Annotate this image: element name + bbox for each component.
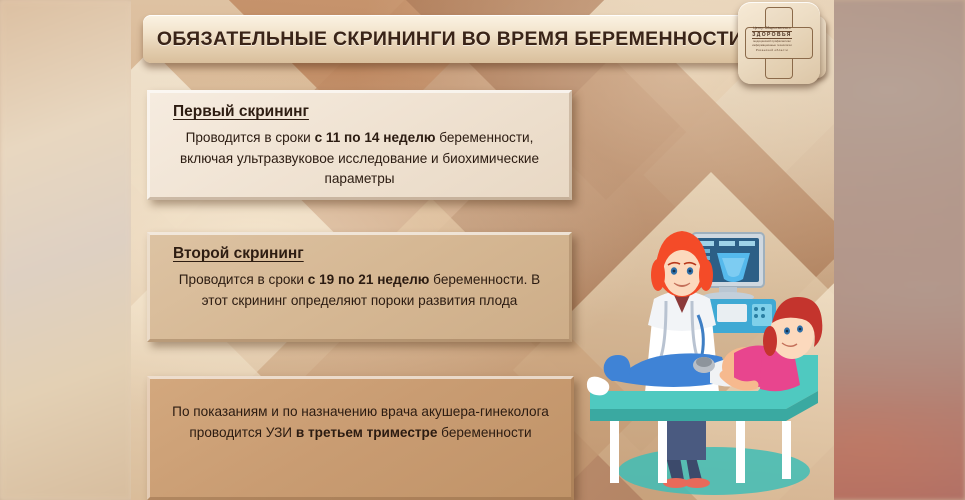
body-text: Проводится в сроки — [186, 130, 315, 145]
box-body: По показаниям и по назначению врача акуш… — [163, 386, 558, 443]
emphasis-text: с 19 по 21 неделю — [308, 272, 430, 287]
box-paragraph: Проводится в сроки с 19 по 21 неделю бер… — [163, 270, 556, 311]
box-body: Второй скрининг Проводится в сроки с 19 … — [163, 245, 556, 311]
body-text: Проводится в сроки — [179, 272, 308, 287]
content-box-first-screening: Первый скрининг Проводится в сроки с 11 … — [147, 90, 572, 200]
ultrasound-illustration — [586, 195, 834, 500]
page-title: ОБЯЗАТЕЛЬНЫЕ СКРИНИНГИ ВО ВРЕМЯ БЕРЕМЕНН… — [157, 28, 743, 51]
box-heading: Первый скрининг — [173, 103, 556, 121]
blurred-backdrop-left — [0, 0, 132, 500]
logo-text-block: Центр Общественного ЗДОРОВЬЯ медицинской… — [744, 24, 800, 54]
presentation-slide: ОБЯЗАТЕЛЬНЫЕ СКРИНИНГИ ВО ВРЕМЯ БЕРЕМЕНН… — [131, 0, 834, 500]
organization-logo: Центр Общественного ЗДОРОВЬЯ медицинской… — [738, 2, 820, 84]
box-body: Первый скрининг Проводится в сроки с 11 … — [163, 103, 556, 190]
emphasis-text: с 11 по 14 неделю — [315, 130, 436, 145]
logo-line-1: Центр Общественного — [753, 26, 790, 30]
logo-line-2: ЗДОРОВЬЯ — [752, 31, 792, 39]
content-box-second-screening: Второй скрининг Проводится в сроки с 19 … — [147, 232, 572, 342]
floor-shadow — [618, 447, 810, 495]
box-paragraph: Проводится в сроки с 11 по 14 неделю бер… — [163, 128, 556, 190]
body-text: беременности — [437, 425, 531, 440]
logo-line-4: информационные технологии — [752, 44, 792, 47]
box-paragraph: По показаниям и по назначению врача акуш… — [163, 386, 558, 443]
slide-title-bar: ОБЯЗАТЕЛЬНЫЕ СКРИНИНГИ ВО ВРЕМЯ БЕРЕМЕНН… — [143, 15, 757, 63]
logo-line-5: Рязанской области — [756, 48, 788, 52]
box-heading: Второй скрининг — [173, 245, 556, 263]
slide-viewer: ОБЯЗАТЕЛЬНЫЕ СКРИНИНГИ ВО ВРЕМЯ БЕРЕМЕНН… — [0, 0, 965, 500]
logo-line-3: медицинской профилактики — [753, 40, 790, 43]
emphasis-text: в третьем триместре — [296, 425, 438, 440]
content-box-third-trimester: По показаниям и по назначению врача акуш… — [147, 376, 574, 500]
